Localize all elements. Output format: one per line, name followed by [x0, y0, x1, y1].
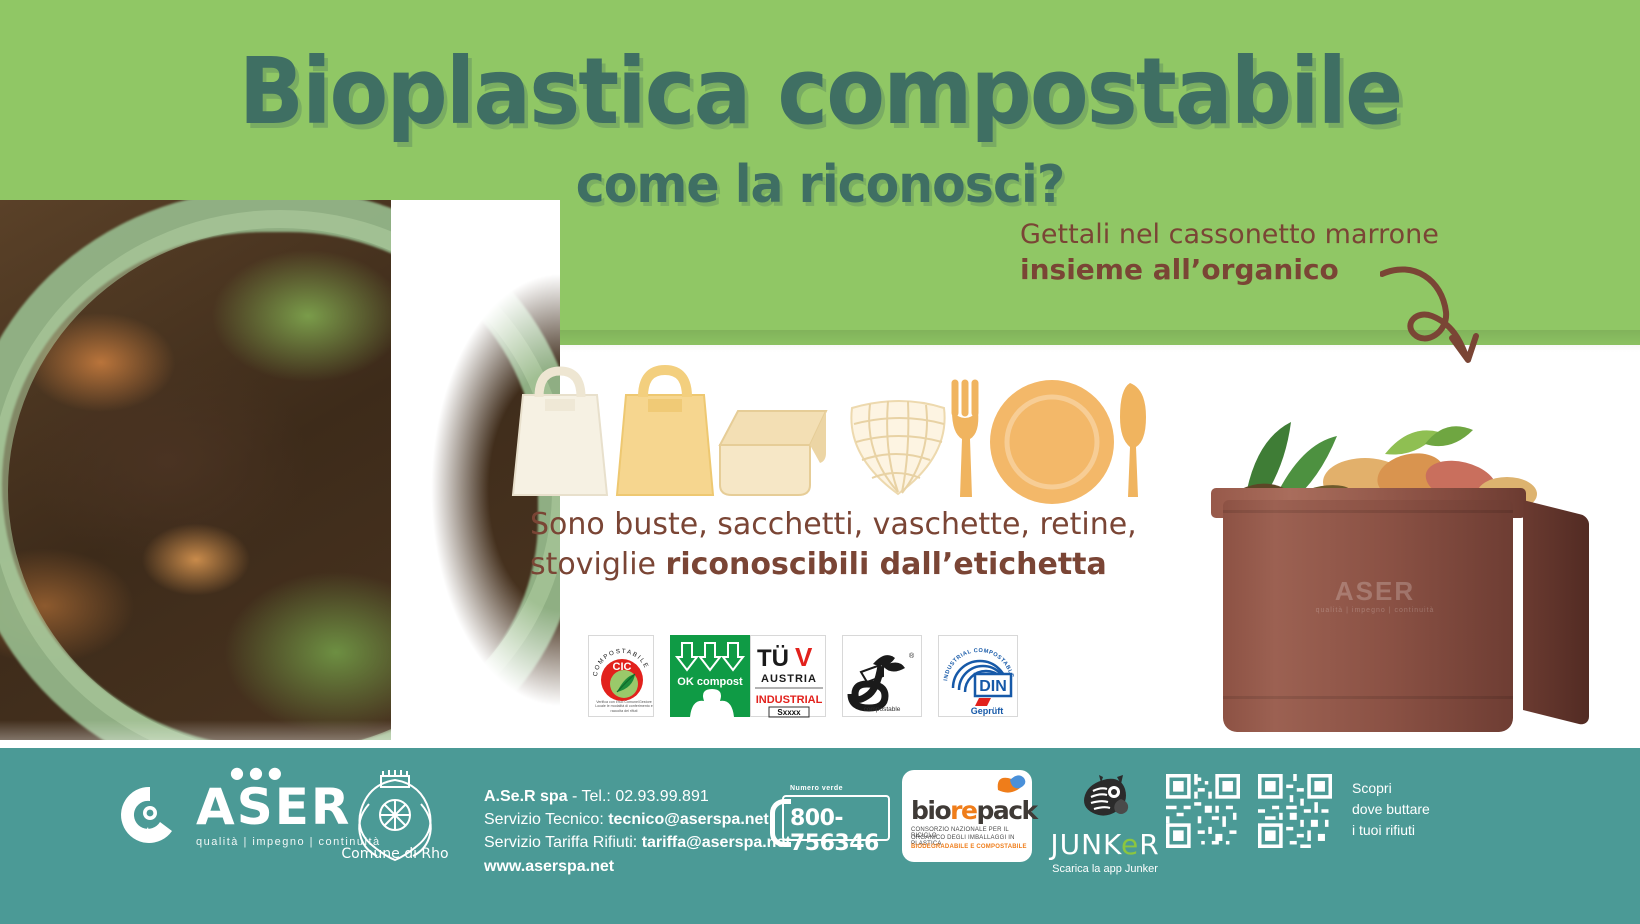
tuv-letters: TÜ	[757, 645, 789, 672]
description-text: Sono buste, sacchetti, vaschette, retine…	[530, 505, 1150, 585]
junker-caption: Scarica la app Junker	[1040, 863, 1170, 875]
compost-photo	[0, 200, 560, 780]
din-geprueft-icon: INDUSTRIAL COMPOSTABLE DIN Geprüft	[939, 636, 1019, 718]
phone-number: 02.93.99.891	[615, 788, 708, 805]
junker-wordmark: JUNKeR	[1040, 828, 1170, 861]
qr-note: Scopri dove buttare i tuoi rifiuti	[1352, 778, 1430, 841]
cert-ok-compost-tuv: OK compost TÜ V AUSTRIA INDUSTRIAL Sxxxx	[670, 635, 826, 717]
tuv-austria-label: AUSTRIA	[761, 673, 817, 685]
zebra-icon	[1077, 775, 1133, 821]
callout-line1: Gettali nel cassonetto marrone	[1020, 219, 1439, 250]
bin-aser-tagline: qualità | impegno | continuità	[1290, 607, 1460, 614]
footer-aser-logo: ASER ●●● qualità | impegno | continuità	[118, 782, 381, 848]
svg-text:CIC: CIC	[613, 661, 632, 673]
bin-body	[1223, 500, 1513, 732]
certification-logos: COMPOSTABILE CIC Verifica con il tuo Com…	[588, 635, 1018, 717]
poster-root: Bioplastica compostabile come la riconos…	[0, 0, 1640, 924]
bp-re: re	[950, 796, 976, 825]
ok-compost-label: OK compost	[677, 676, 743, 688]
product-icons-row	[505, 355, 1165, 505]
bp-pack: pack	[976, 796, 1036, 825]
tuv-austria-panel: TÜ V AUSTRIA INDUSTRIAL Sxxxx	[750, 635, 826, 717]
junker-jun: JUNK	[1050, 828, 1121, 861]
tuv-v: V	[795, 642, 813, 672]
knife-icon	[1120, 377, 1154, 507]
contact-block: A.Se.R spa - Tel.: 02.93.99.891 Servizio…	[484, 785, 791, 878]
qr-note-line3: i tuoi rifiuti	[1352, 820, 1430, 841]
green-number-label: Numero verde	[790, 785, 843, 792]
qr-note-line2: dove buttare	[1352, 799, 1430, 820]
seedling-caption: compostable	[843, 706, 921, 713]
qr-note-line1: Scopri	[1352, 778, 1430, 799]
bin-aser-logo: ASER qualità | impegno | continuità	[1290, 576, 1460, 614]
brown-bin-photo: ASER qualità | impegno | continuità	[1205, 350, 1640, 760]
bin-side-panel	[1523, 500, 1589, 726]
cert-seedling-compostable: ® compostable	[842, 635, 922, 717]
bp-bio: bio	[911, 796, 950, 825]
contact-line-company: A.Se.R spa - Tel.: 02.93.99.891	[484, 785, 791, 808]
comune-label: Comune di Rho	[340, 846, 450, 862]
contact-line-tech: Servizio Tecnico: tecnico@aserspa.net	[484, 808, 791, 831]
junker-e: e	[1121, 828, 1139, 861]
biorepack-line3: BIODEGRADABILE E COMPOSTABILE	[911, 844, 1027, 850]
green-number-value: 800-756346	[790, 806, 888, 856]
junker-r: R	[1139, 828, 1159, 861]
phone-icon	[770, 799, 791, 847]
tuv-industrial: INDUSTRIAL	[756, 694, 823, 706]
tech-label: Servizio Tecnico:	[484, 811, 608, 828]
description-bold: riconoscibili dall’etichetta	[666, 547, 1107, 582]
contact-line-tariff: Servizio Tariffa Rifiuti: tariffa@asersp…	[484, 831, 791, 854]
aser-circle-icon	[118, 783, 182, 847]
plate-icon	[987, 377, 1117, 507]
website-url: www.aserspa.net	[484, 858, 614, 875]
cert-cic-compostabile: COMPOSTABILE CIC Verifica con il tuo Com…	[588, 635, 654, 717]
fork-icon	[948, 377, 988, 507]
tuv-code: Sxxxx	[777, 708, 801, 717]
shopping-bag-white-icon	[505, 355, 615, 505]
junker-logo: JUNKeR Scarica la app Junker	[1040, 775, 1170, 875]
ok-compost-icon: OK compost	[670, 635, 750, 717]
biorepack-logo: biorepack CONSORZIO NAZIONALE PER IL RIC…	[902, 770, 1032, 862]
green-number-box[interactable]: Numero verde 800-756346	[782, 795, 890, 841]
phone-prefix: - Tel.:	[568, 788, 616, 805]
tech-email: tecnico@aserspa.net	[608, 811, 769, 828]
tariff-email: tariffa@aserspa.net	[642, 834, 791, 851]
tuv-austria-icon: TÜ V AUSTRIA INDUSTRIAL Sxxxx	[751, 636, 827, 718]
company-name: A.Se.R spa	[484, 788, 568, 805]
qr-code-junker[interactable]	[1166, 774, 1240, 848]
mesh-net-icon	[840, 385, 950, 515]
ok-compost-panel: OK compost	[670, 635, 750, 717]
din-geprueft-label: Geprüft	[971, 706, 1004, 716]
cic-footnote: Verifica con il tuo Comune/Gestore Local…	[589, 700, 659, 713]
tariff-label: Servizio Tariffa Rifiuti:	[484, 834, 642, 851]
contact-line-website[interactable]: www.aserspa.net	[484, 855, 791, 878]
shopping-bag-yellow-icon	[610, 355, 720, 505]
biorepack-wordmark: biorepack	[911, 796, 1037, 825]
page-title: Bioplastica compostabile	[57, 38, 1582, 145]
seedling-registered: ®	[909, 652, 915, 660]
din-label: DIN	[979, 678, 1007, 695]
cert-din-geprueft: INDUSTRIAL COMPOSTABLE DIN Geprüft	[938, 635, 1018, 717]
qr-code-rifiuti[interactable]	[1258, 774, 1332, 848]
